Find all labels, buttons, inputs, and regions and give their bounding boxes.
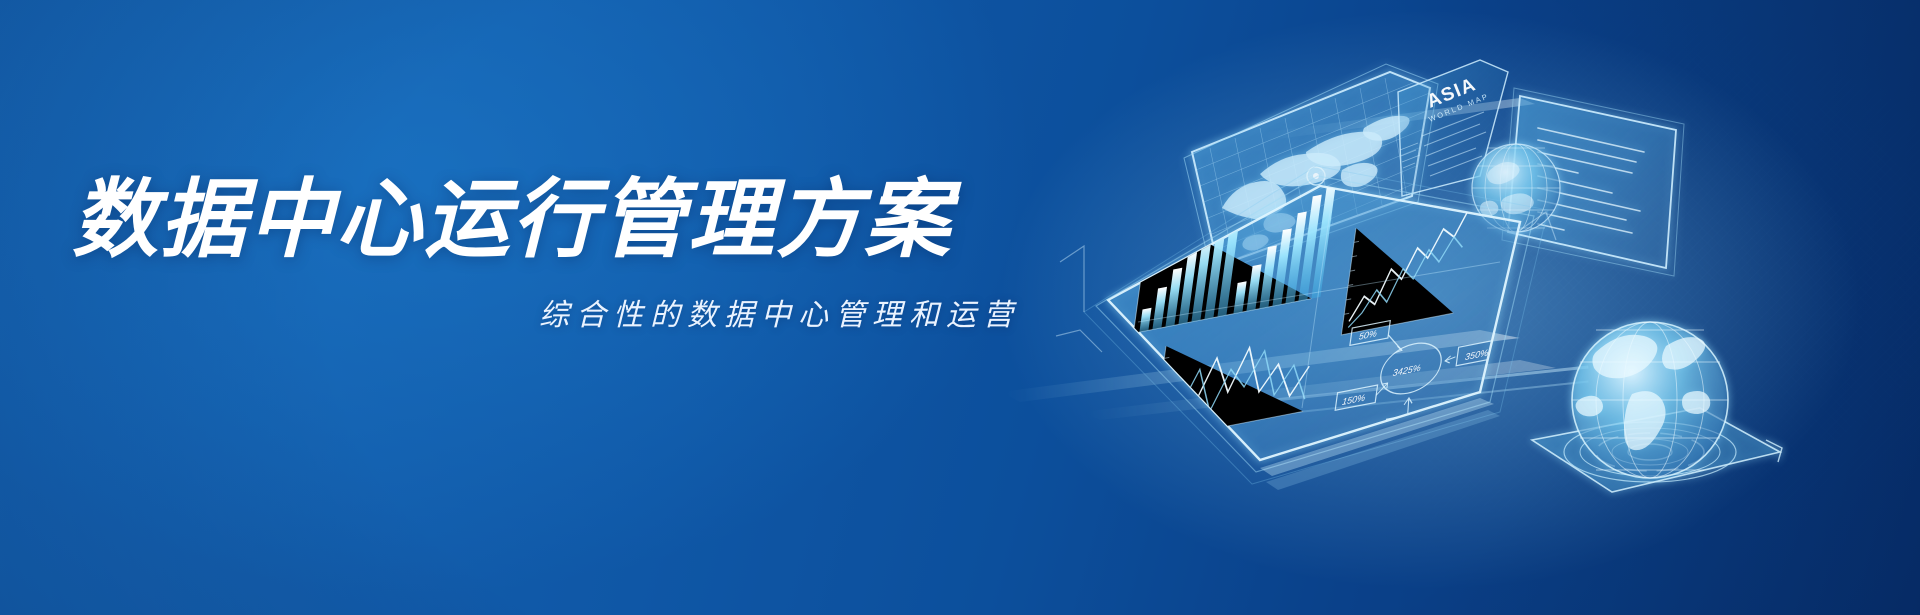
info-panel-text-lines — [1538, 128, 1644, 233]
dashboard-panel: 3425% 50% 350% 150% 25% — [1084, 166, 1548, 484]
flow-label-right: 350% — [1464, 348, 1488, 362]
flow-center-label: 3425% — [1392, 363, 1421, 378]
tech-hologram-artwork: ASIA WORLD MAP — [960, 0, 1920, 615]
map-label-plate: ASIA WORLD MAP — [1398, 60, 1508, 196]
map-label-barcode — [1400, 143, 1420, 168]
page-subtitle: 综合性的数据中心管理和运营 — [72, 290, 1072, 334]
globe-graticule — [1572, 322, 1728, 478]
line-chart-top-right — [1341, 206, 1468, 335]
frame-brackets — [1056, 212, 1556, 352]
flow-center-node — [1378, 338, 1445, 399]
page-title: 数据中心运行管理方案 — [72, 175, 1072, 266]
flow-node-left — [1335, 385, 1377, 410]
flow-diagram: 3425% 50% 350% 150% 25% — [1330, 298, 1508, 450]
line-series-b — [1348, 235, 1464, 328]
flow-label-left: 150% — [1341, 393, 1365, 407]
map-panel-subtitle: WORLD MAP — [1427, 91, 1490, 123]
flow-label-top-left: 50% — [1358, 328, 1377, 341]
flow-node-right — [1456, 339, 1503, 366]
line-series-a — [1160, 335, 1313, 429]
line-series-a — [1349, 212, 1467, 321]
line-chart-bottom-left — [1153, 317, 1316, 441]
globe-platform — [1532, 408, 1780, 492]
flow-node-top-left — [1350, 321, 1390, 346]
bar-chart — [1133, 176, 1337, 334]
map-panel-title: ASIA — [1424, 74, 1480, 113]
flow-label-bottom: 25% — [1393, 420, 1413, 434]
banner-text-block: 数据中心运行管理方案 综合性的数据中心管理和运营 — [72, 175, 1072, 334]
flow-node-bottom — [1384, 411, 1429, 439]
light-streak-group — [1000, 98, 1589, 420]
line-series-b — [1160, 341, 1313, 435]
globe-hologram — [1532, 322, 1782, 492]
world-map-panel — [1184, 64, 1442, 274]
background-texture — [940, 0, 1920, 615]
globe-hologram-small — [1472, 144, 1560, 232]
info-text-panel — [1502, 88, 1684, 276]
dashboard-dividers — [1138, 198, 1500, 408]
bar-chart-axis — [1133, 177, 1328, 333]
flow-arrows — [1373, 321, 1461, 420]
hero-banner: ASIA WORLD MAP — [0, 0, 1920, 615]
globe-continents — [1576, 335, 1711, 450]
map-label-textlines — [1422, 112, 1486, 176]
platform-rings — [1564, 422, 1736, 482]
dashboard-edge-layers — [1260, 398, 1500, 490]
